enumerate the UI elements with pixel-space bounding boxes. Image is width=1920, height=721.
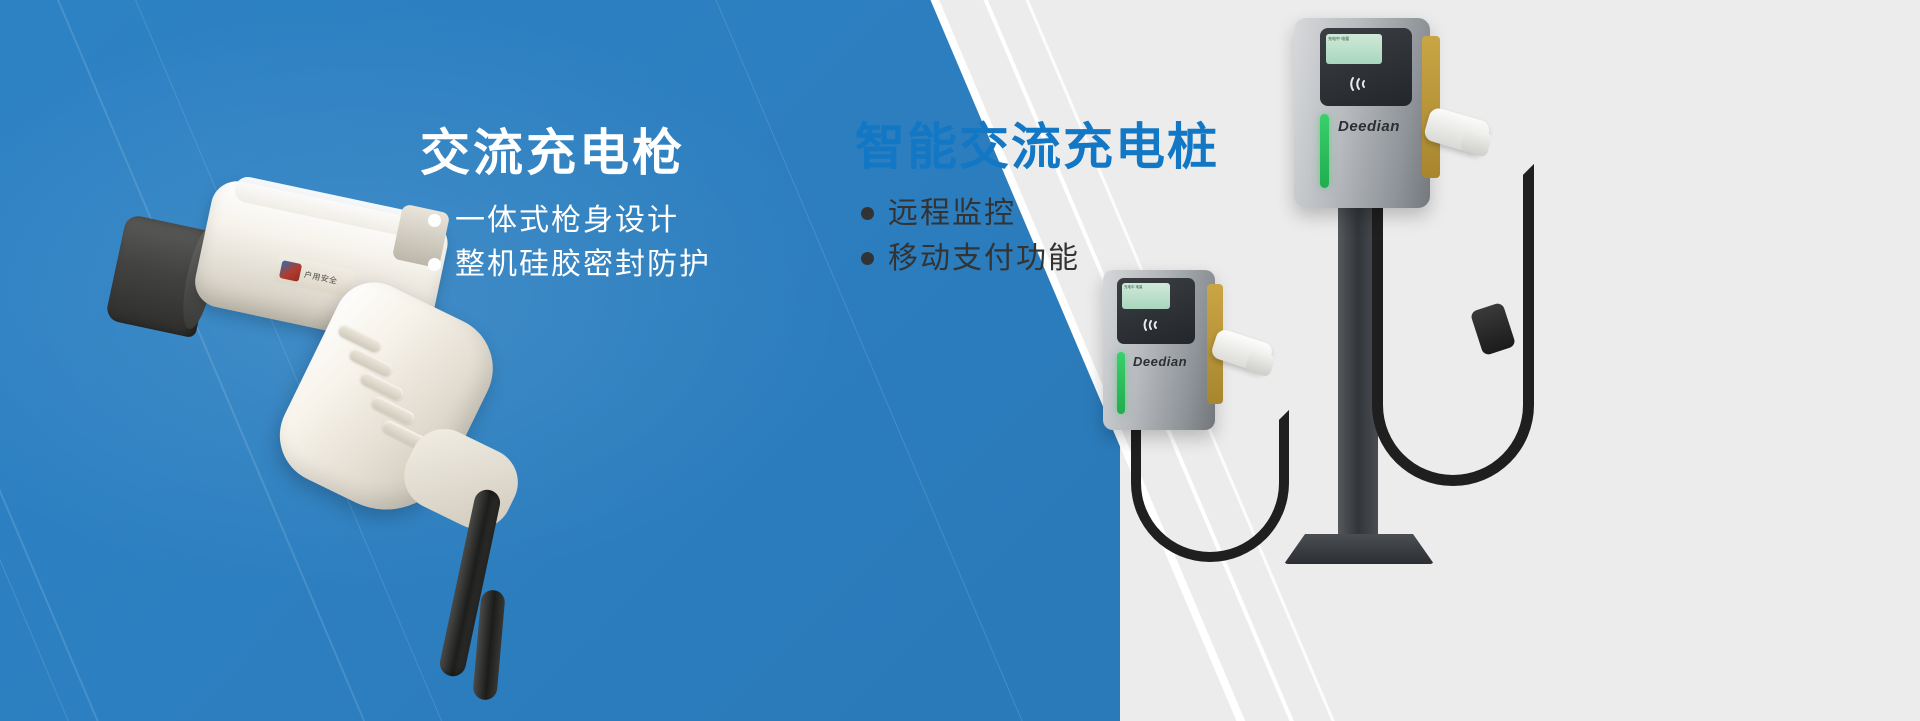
pile-display-screen: 充电中 电量 xyxy=(1122,283,1170,309)
pile-side-panel xyxy=(1422,36,1440,178)
bullet-dot-icon xyxy=(861,252,874,265)
right-feature-item-1: 远程监控 xyxy=(861,191,1285,236)
pile-brand-label: Deedian xyxy=(1133,354,1187,369)
pile-body: 充电中 电量 Deedian xyxy=(1103,270,1215,430)
pile-base xyxy=(1284,534,1434,564)
left-feature-item-2: 整机硅胶密封防护 xyxy=(428,243,850,287)
left-feature-item-1: 一体式枪身设计 xyxy=(428,199,850,243)
gun-label-text: 户用安全 xyxy=(303,269,339,287)
nfc-wave-icon xyxy=(1143,316,1163,334)
left-feature-text-2: 整机硅胶密封防护 xyxy=(455,243,711,287)
left-panel-title: 交流充电枪 xyxy=(420,126,850,181)
pile-status-light-strip xyxy=(1320,114,1329,188)
pile-display-screen: 充电中 电量 xyxy=(1326,34,1382,64)
right-panel-title: 智能交流充电桩 xyxy=(855,120,1285,175)
right-feature-list: 远程监控 移动支付功能 xyxy=(855,191,1285,281)
pile-brand-label: Deedian xyxy=(1338,118,1400,135)
bullet-dot-icon xyxy=(861,207,874,220)
pile-cable-loop xyxy=(1131,410,1289,562)
right-text-block: 智能交流充电桩 远程监控 移动支付功能 xyxy=(855,120,1285,281)
pedestal-charging-pile-image: 充电中 电量 Deedian xyxy=(1276,18,1496,578)
pile-body: 充电中 电量 Deedian xyxy=(1294,18,1430,208)
right-feature-text-1: 远程监控 xyxy=(888,191,1016,236)
left-feature-text-1: 一体式枪身设计 xyxy=(455,199,679,243)
bullet-dot-icon xyxy=(428,214,441,227)
bullet-dot-icon xyxy=(428,258,441,271)
left-feature-list: 一体式枪身设计 整机硅胶密封防护 xyxy=(420,199,850,286)
left-text-block: 交流充电枪 一体式枪身设计 整机硅胶密封防护 xyxy=(420,126,850,286)
nfc-wave-icon xyxy=(1350,74,1372,94)
product-banner: 户用安全 交流充电枪 一体式枪身设计 整机硅胶密封防护 智能交流充电桩 xyxy=(0,0,1920,721)
right-feature-text-2: 移动支付功能 xyxy=(888,236,1080,281)
pile-status-light-strip xyxy=(1117,352,1125,414)
brand-mark-icon xyxy=(279,260,302,282)
